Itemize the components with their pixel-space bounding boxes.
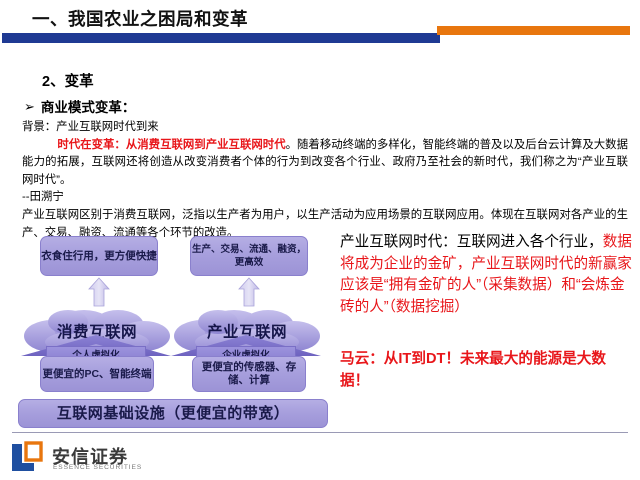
paragraph-background: 背景：产业互联网时代到来	[22, 119, 628, 137]
diagram-box-industry-benefit: 生产、交易、流通、融资，更高效	[190, 236, 308, 276]
up-arrow-icon	[238, 277, 260, 307]
paragraph-quote: 时代在变革：从消费互联网到产业互联网时代。随着移动终端的多样化，智能终端的普及以…	[22, 137, 628, 190]
paragraph-quote-highlight: 时代在变革：从消费互联网到产业互联网时代	[57, 139, 285, 151]
section-heading: 2、变革	[42, 70, 94, 91]
up-arrow-icon	[88, 277, 110, 307]
diagram-box-cheap-sensor: 更便宜的传感器、存储、计算	[192, 356, 306, 392]
title-underline-orange	[437, 26, 630, 35]
footer-divider	[12, 432, 628, 433]
right-commentary-block: 产业互联网时代：互联网进入各个行业，数据将成为企业的金矿，产业互联网时代的新赢家…	[340, 232, 632, 318]
body-paragraphs: 背景：产业互联网时代到来 时代在变革：从消费互联网到产业互联网时代。随着移动终端…	[22, 119, 628, 242]
right-commentary-black: 产业互联网时代：互联网进入各个行业，	[340, 234, 603, 250]
page-title: 一、我国农业之困局和变革	[32, 6, 248, 31]
diagram-box-infrastructure: 互联网基础设施（更便宜的带宽）	[18, 399, 328, 428]
diagram-box-consumer-benefit: 衣食住行用，更方便快捷	[40, 236, 158, 276]
diagram-box-cheap-pc: 更便宜的PC、智能终端	[40, 356, 154, 392]
title-underline-blue	[2, 33, 440, 43]
internet-evolution-diagram: 衣食住行用，更方便快捷 生产、交易、流通、融资，更高效	[12, 236, 334, 428]
essence-securities-logo-icon	[10, 441, 44, 473]
arrow-right-icon: ➢	[24, 100, 35, 113]
bullet-heading-label: 商业模式变革：	[41, 96, 136, 116]
bullet-heading: ➢ 商业模式变革：	[24, 96, 135, 116]
slide-title-bar: 一、我国农业之困局和变革	[0, 0, 640, 50]
paragraph-attribution: --田溯宁	[22, 189, 628, 207]
right-quote-text: 马云：从IT到DT！未来最大的能源是大数据！	[340, 349, 632, 392]
logo-text-english: ESSENCE SECURITIES	[53, 464, 142, 471]
company-logo: 安信证券 ESSENCE SECURITIES	[10, 440, 170, 476]
right-quote-block: 马云：从IT到DT！未来最大的能源是大数据！	[340, 349, 632, 392]
right-commentary-text: 产业互联网时代：互联网进入各个行业，数据将成为企业的金矿，产业互联网时代的新赢家…	[340, 232, 632, 318]
